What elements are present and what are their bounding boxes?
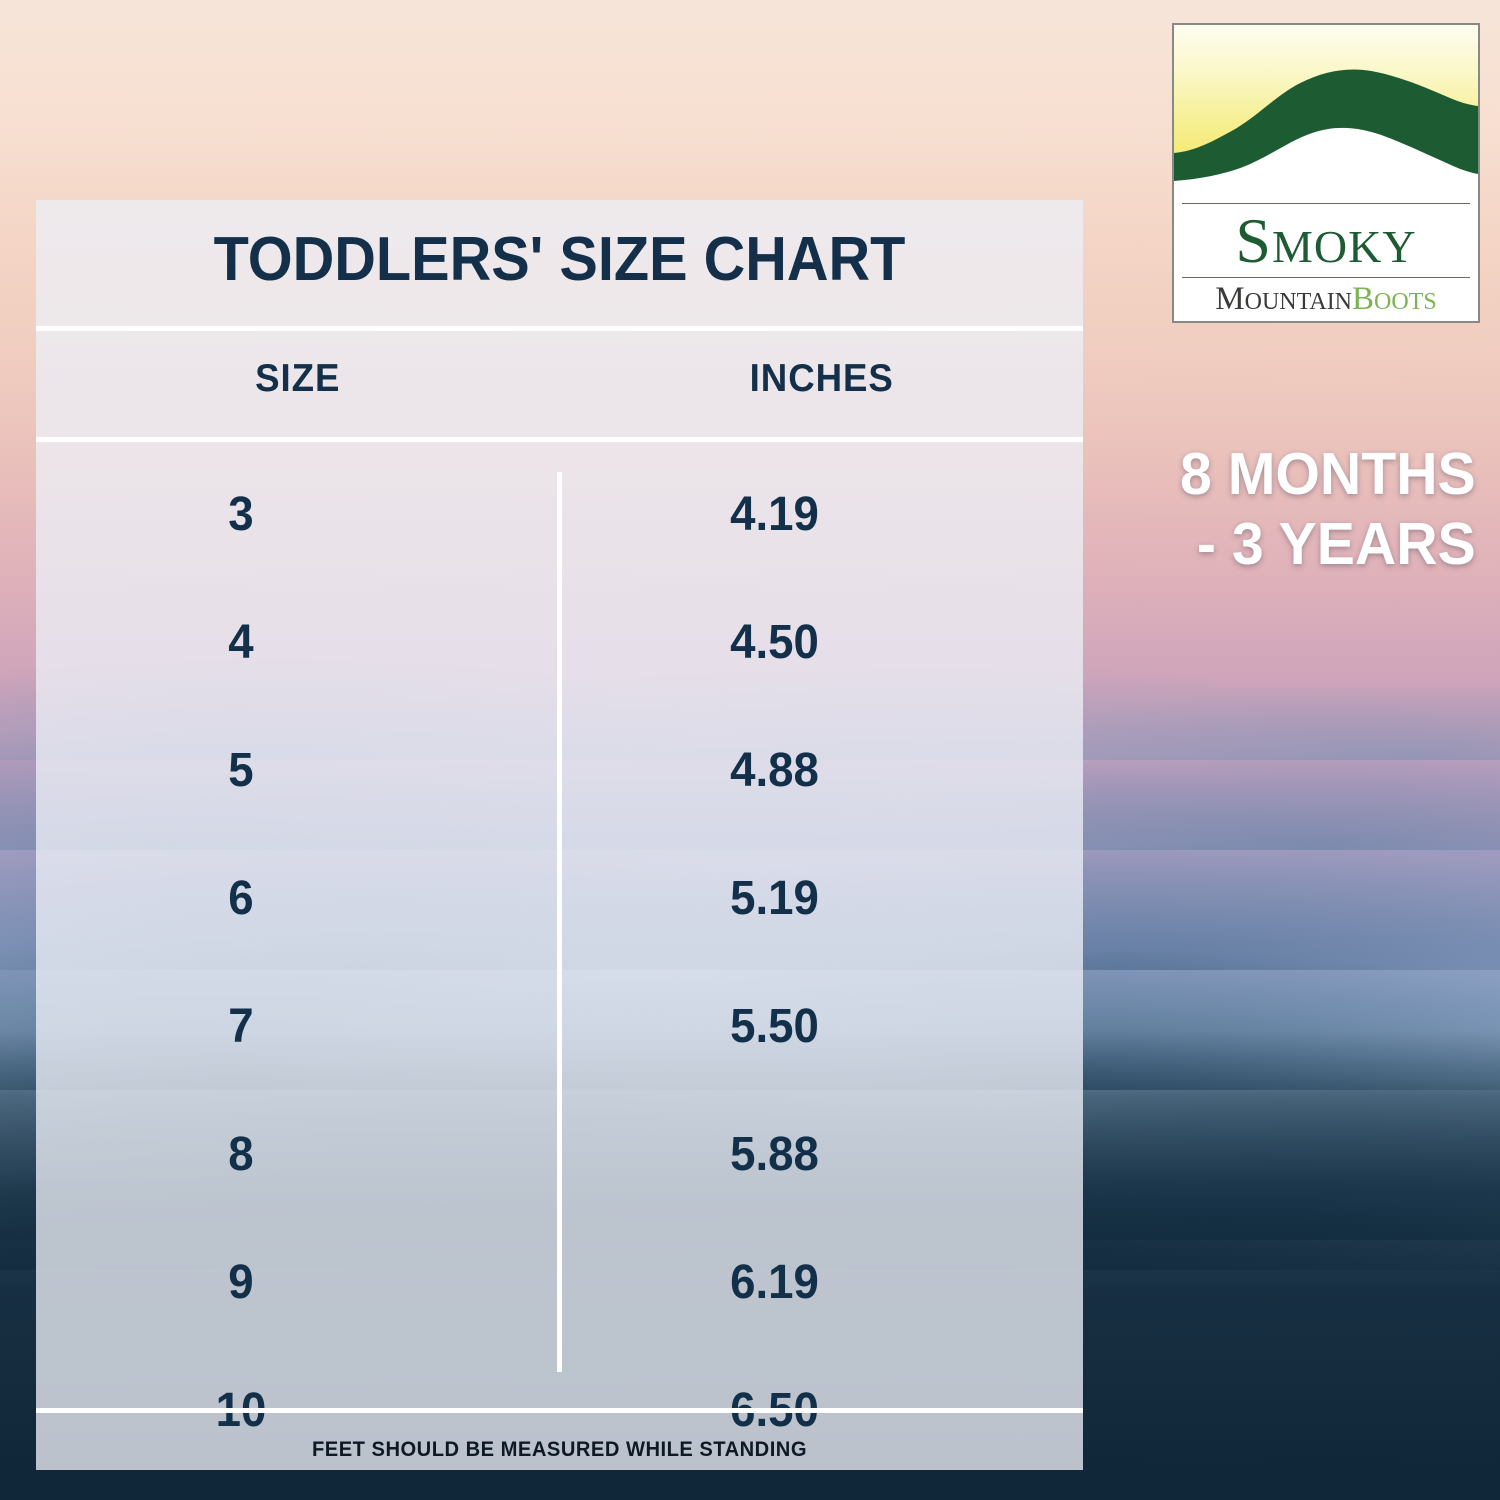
divider-footer: [36, 1408, 1083, 1413]
age-range-line-1: 8 MONTHS: [1068, 440, 1475, 510]
logo-mountain-icon: [1174, 25, 1478, 197]
table-row: 6 5.19: [36, 834, 1083, 962]
cell-size: 7: [49, 999, 556, 1054]
divider-header: [36, 437, 1083, 442]
table-header-row: SIZE INCHES: [36, 357, 1083, 427]
page-title: TODDLERS' SIZE CHART: [73, 224, 1047, 295]
logo-wordmark-mountainboots: MOUNTAINBOOTS: [1174, 283, 1478, 316]
logo-smoky-rest: MOKY: [1272, 221, 1417, 272]
divider-title: [36, 326, 1083, 331]
logo-wordmark-smoky: SMOKY: [1174, 209, 1478, 273]
column-header-size: SIZE: [52, 357, 544, 427]
logo-mountain-rest: OUNTAIN: [1245, 289, 1352, 315]
logo-boots-rest: OOTS: [1374, 289, 1437, 315]
cell-size: 5: [49, 743, 556, 798]
logo-mountain-initial: M: [1215, 281, 1244, 317]
brand-logo: SMOKY MOUNTAINBOOTS: [1172, 23, 1480, 323]
cell-size: 3: [49, 487, 556, 542]
size-chart-image: TODDLERS' SIZE CHART SIZE INCHES 3 4.19 …: [0, 0, 1500, 1500]
table-row: 3 4.19: [36, 450, 1083, 578]
table-body: 3 4.19 4 4.50 5 4.88 6 5.19 7 5.50 8 5.8…: [36, 450, 1083, 1400]
table-row: 8 5.88: [36, 1090, 1083, 1218]
cell-inches: 4.19: [582, 487, 1070, 542]
cell-inches: 4.88: [582, 743, 1070, 798]
logo-rule-bottom: [1182, 277, 1470, 278]
cell-size: 9: [49, 1255, 556, 1310]
footer-note: FEET SHOULD BE MEASURED WHILE STANDING: [57, 1438, 1062, 1462]
cell-size: 4: [49, 615, 556, 670]
logo-rule-top: [1182, 203, 1470, 204]
table-row: 5 4.88: [36, 706, 1083, 834]
cell-inches: 4.50: [582, 615, 1070, 670]
logo-boots-initial: B: [1352, 281, 1374, 317]
age-range-callout: 8 MONTHS - 3 YEARS: [1068, 440, 1475, 579]
column-header-inches: INCHES: [575, 357, 1067, 427]
logo-smoky-initial: S: [1235, 205, 1272, 276]
table-row: 7 5.50: [36, 962, 1083, 1090]
cell-inches: 5.88: [582, 1127, 1070, 1182]
cell-inches: 6.19: [582, 1255, 1070, 1310]
table-row: 4 4.50: [36, 578, 1083, 706]
age-range-line-2: - 3 YEARS: [1068, 510, 1475, 580]
cell-size: 6: [49, 871, 556, 926]
cell-size: 8: [49, 1127, 556, 1182]
table-row: 9 6.19: [36, 1218, 1083, 1346]
size-chart-panel: TODDLERS' SIZE CHART SIZE INCHES 3 4.19 …: [36, 200, 1083, 1470]
cell-inches: 5.50: [582, 999, 1070, 1054]
cell-inches: 5.19: [582, 871, 1070, 926]
